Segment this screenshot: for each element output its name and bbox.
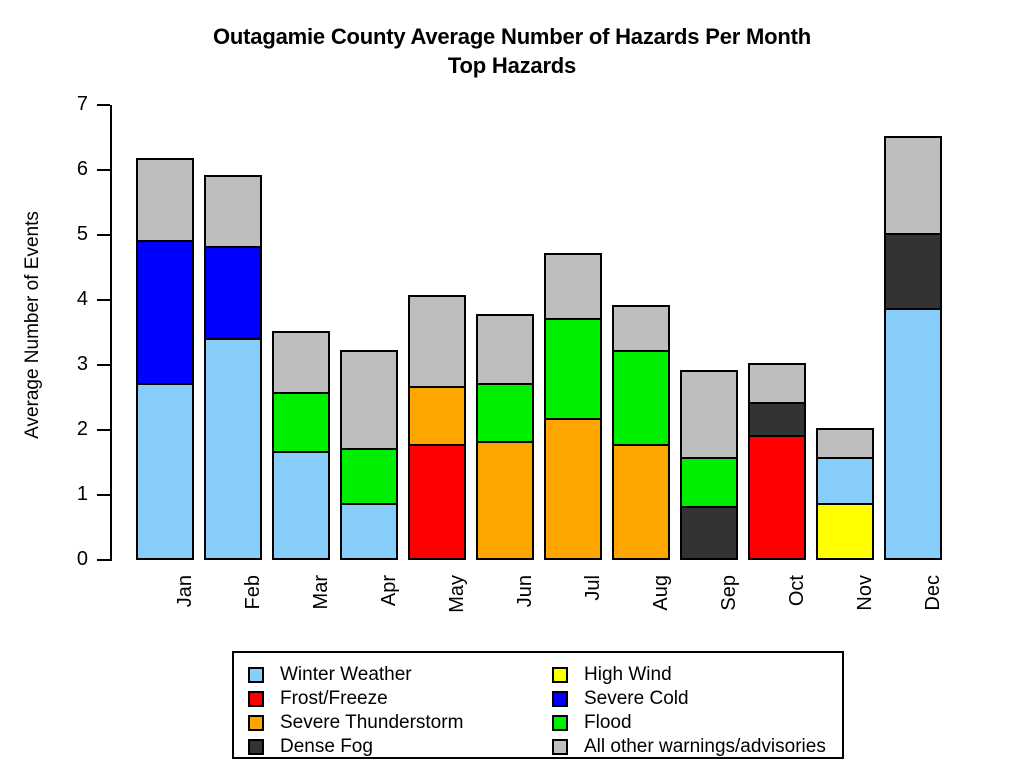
bar-segment — [204, 338, 262, 560]
legend-item[interactable]: Dense Fog — [248, 735, 463, 758]
bar-segment — [544, 253, 602, 320]
legend-swatch-icon — [248, 715, 264, 731]
bar-segment — [204, 175, 262, 249]
legend-swatch-icon — [248, 691, 264, 707]
bar-segment — [544, 318, 602, 421]
bar-segment — [680, 370, 738, 460]
bar-segment — [136, 240, 194, 385]
bar-segment — [476, 383, 534, 444]
chart-title-line1: Outagamie County Average Number of Hazar… — [213, 24, 811, 49]
x-axis-tick-label: Dec — [923, 575, 943, 665]
y-axis-tick — [97, 299, 110, 301]
legend-swatch-icon — [552, 691, 568, 707]
bar-segment — [136, 158, 194, 241]
legend-item-label: High Wind — [584, 665, 672, 684]
legend-item[interactable]: Flood — [552, 711, 826, 734]
bar-segment — [408, 295, 466, 388]
bar-segment — [816, 457, 874, 505]
y-axis-tick — [97, 429, 110, 431]
legend-item[interactable]: Severe Thunderstorm — [248, 711, 463, 734]
legend-item[interactable]: Frost/Freeze — [248, 687, 463, 710]
legend-swatch-icon — [552, 715, 568, 731]
y-axis-tick — [97, 234, 110, 236]
legend-item[interactable]: Winter Weather — [248, 663, 463, 686]
x-axis-tick-label: Nov — [855, 575, 875, 665]
legend-column-right: High WindSevere ColdFloodAll other warni… — [552, 663, 826, 759]
bar-segment — [476, 314, 534, 384]
bar-segment — [748, 402, 806, 437]
legend-item[interactable]: High Wind — [552, 663, 826, 686]
bar-segment — [272, 451, 330, 560]
bar-segment — [612, 444, 670, 560]
chart-canvas: Outagamie County Average Number of Hazar… — [0, 0, 1024, 768]
bar-segment — [884, 233, 942, 310]
bar-segment — [136, 383, 194, 561]
y-axis-tick-label: 1 — [48, 484, 88, 504]
y-axis-tick-label: 0 — [48, 549, 88, 569]
bar-segment — [544, 418, 602, 560]
bar-segment — [680, 506, 738, 560]
legend-swatch-icon — [552, 667, 568, 683]
bar-segment — [272, 392, 330, 453]
legend-swatch-icon — [552, 739, 568, 755]
y-axis-tick-label: 6 — [48, 159, 88, 179]
legend-item[interactable]: Severe Cold — [552, 687, 826, 710]
y-axis-tick — [97, 364, 110, 366]
bar-segment — [204, 246, 262, 340]
chart-subtitle: Top Hazards — [0, 51, 1024, 80]
legend-item-label: Severe Cold — [584, 689, 689, 708]
bar-segment — [272, 331, 330, 395]
legend: Winter WeatherFrost/FreezeSevere Thunder… — [232, 651, 844, 759]
bar-segment — [612, 305, 670, 353]
legend-item-label: All other warnings/advisories — [584, 737, 826, 756]
bar-segment — [884, 308, 942, 560]
y-axis-tick — [97, 494, 110, 496]
x-axis-tick-label: Jan — [175, 575, 195, 665]
y-axis-tick-label: 5 — [48, 224, 88, 244]
y-axis-tick-label: 3 — [48, 354, 88, 374]
legend-item[interactable]: All other warnings/advisories — [552, 735, 826, 758]
legend-swatch-icon — [248, 667, 264, 683]
legend-item-label: Frost/Freeze — [280, 689, 388, 708]
bar-segment — [340, 350, 398, 450]
legend-item-label: Winter Weather — [280, 665, 412, 684]
bar-segment — [748, 435, 806, 561]
legend-swatch-icon — [248, 739, 264, 755]
chart-title: Outagamie County Average Number of Hazar… — [0, 22, 1024, 80]
bar-segment — [408, 386, 466, 447]
plot-area — [110, 100, 955, 565]
y-axis-tick — [97, 104, 110, 106]
legend-column-left: Winter WeatherFrost/FreezeSevere Thunder… — [248, 663, 463, 759]
bar-segment — [476, 441, 534, 560]
y-axis-tick-label: 7 — [48, 94, 88, 114]
bar-segment — [340, 448, 398, 505]
legend-item-label: Flood — [584, 713, 632, 732]
bar-segment — [680, 457, 738, 508]
y-axis-tick-label: 2 — [48, 419, 88, 439]
bar-segment — [748, 363, 806, 404]
legend-item-label: Dense Fog — [280, 737, 373, 756]
bar-segment — [816, 503, 874, 560]
y-axis-tick — [97, 169, 110, 171]
y-axis-tick-label: 4 — [48, 289, 88, 309]
bar-segment — [408, 444, 466, 560]
y-axis-tick — [97, 559, 110, 561]
bar-segment — [612, 350, 670, 446]
bar-segment — [816, 428, 874, 459]
legend-item-label: Severe Thunderstorm — [280, 713, 463, 732]
bar-segment — [340, 503, 398, 560]
bar-segment — [884, 136, 942, 236]
